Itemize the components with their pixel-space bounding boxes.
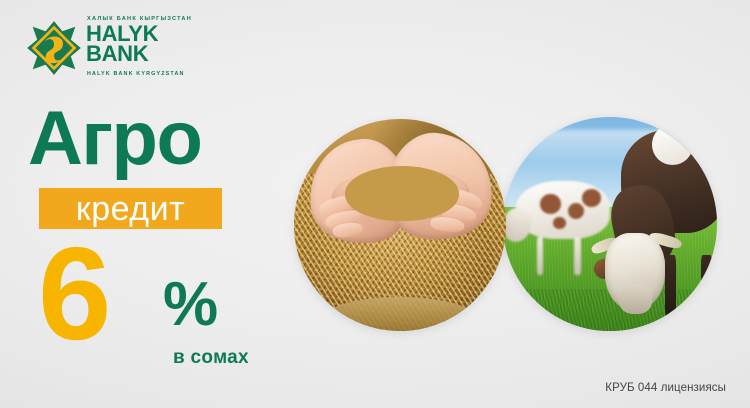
hands-holding-wheat-grain-photo (294, 119, 506, 331)
agro-credit-banner: ХАЛЫК БАНК КЫРГЫЗСТАН HALYK BANK HALYK B… (0, 0, 750, 408)
logo-bottom-line: HALYK BANK KYRGYZSTAN (87, 72, 185, 77)
grazing-cows-pasture-photo (503, 117, 717, 331)
rate-currency-label: в сомах (173, 348, 249, 367)
license-text: КРУБ 044 лицензиясы (605, 382, 726, 394)
bank-logo[interactable]: ХАЛЫК БАНК КЫРГЫЗСТАН HALYK BANK HALYK B… (26, 14, 216, 82)
grain-in-hands (345, 166, 459, 221)
offer-headline: Агро (28, 101, 201, 177)
grain-basket-rim (324, 297, 477, 331)
logo-name-line-2: BANK (86, 44, 158, 64)
rate-percent-symbol: % (163, 274, 218, 336)
logo-name: HALYK BANK (86, 24, 158, 64)
halyk-bank-star-diamond-logo-icon (26, 20, 82, 76)
logo-wordmark: ХАЛЫК БАНК КЫРГЫЗСТАН HALYK BANK HALYK B… (86, 14, 216, 82)
foreground-cow (589, 130, 717, 314)
interest-rate-block: 6 % в сомах (30, 236, 260, 381)
rate-number: 6 (38, 228, 108, 360)
